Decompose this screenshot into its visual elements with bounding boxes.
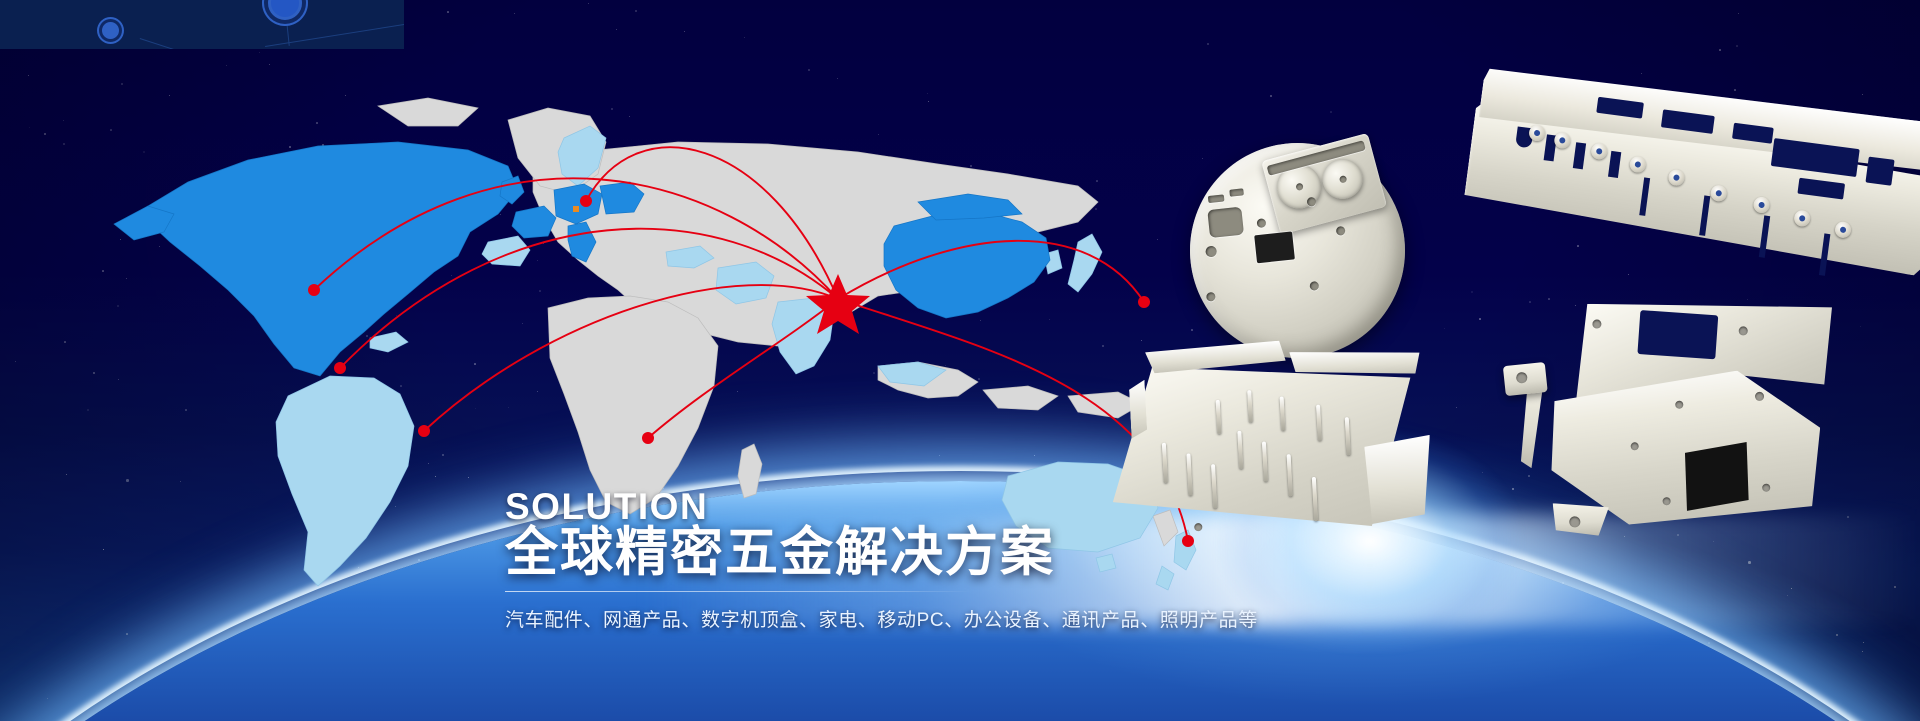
node-marker-large-icon — [268, 0, 302, 20]
disc-black-label — [1254, 231, 1295, 263]
metal-parts-group — [1200, 95, 1920, 545]
eyebrow-text: SOLUTION — [505, 487, 1265, 527]
marker-germany — [573, 206, 579, 212]
hero-banner: SOLUTION 全球精密五金解决方案 汽车配件、网通产品、数字机顶盒、家电、移… — [0, 0, 1920, 721]
page-title: 全球精密五金解决方案 — [505, 524, 1265, 582]
chassis-black-window — [1685, 442, 1749, 511]
disc-subassembly — [1261, 133, 1387, 235]
subtitle-text: 汽车配件、网通产品、数字机顶盒、家电、移动PC、办公设备、通讯产品、照明产品等 — [505, 605, 1265, 632]
disc-square-cutout — [1207, 207, 1244, 238]
hero-copy: SOLUTION 全球精密五金解决方案 汽车配件、网通产品、数字机顶盒、家电、移… — [505, 487, 1265, 632]
part-chassis-frame — [1506, 293, 1894, 556]
tech-panel — [0, 0, 404, 49]
node-marker-small-icon — [102, 22, 119, 39]
title-divider — [505, 591, 971, 592]
